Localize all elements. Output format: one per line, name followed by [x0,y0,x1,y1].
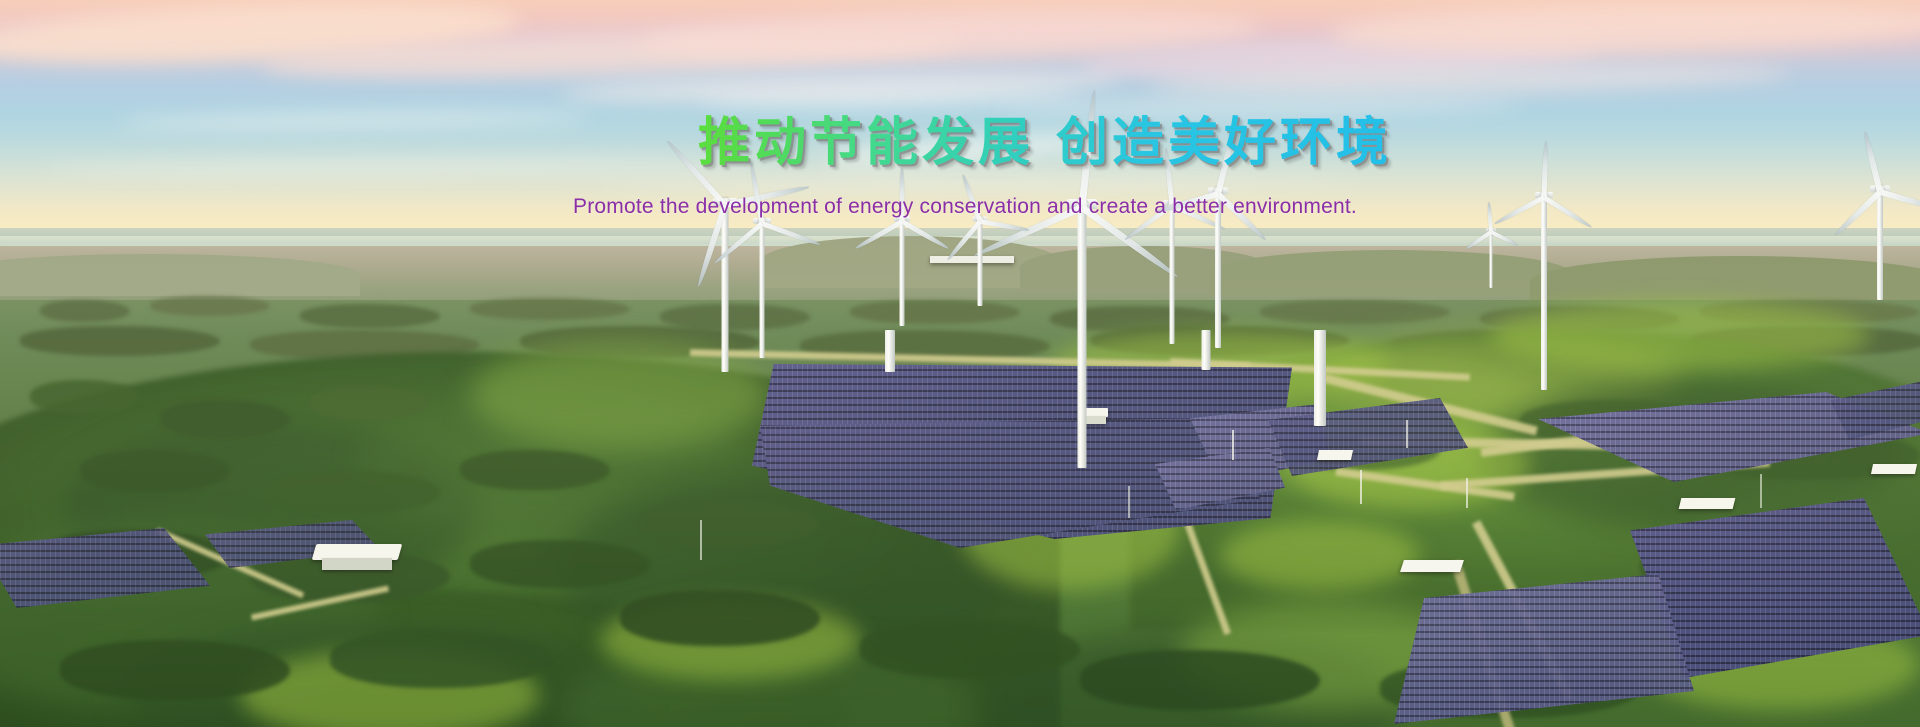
headline-container: 推动节能发展 创造美好环境 [0,112,1920,174]
subtitle-container: Promote the development of energy conser… [0,172,1920,254]
hero-banner: 推动节能发展 创造美好环境 Promote the development of… [0,0,1920,727]
banner-subtitle: Promote the development of energy conser… [563,193,1357,233]
banner-headline: 推动节能发展 创造美好环境 [528,112,1392,174]
banner-text-overlay: 推动节能发展 创造美好环境 Promote the development of… [0,0,1920,727]
